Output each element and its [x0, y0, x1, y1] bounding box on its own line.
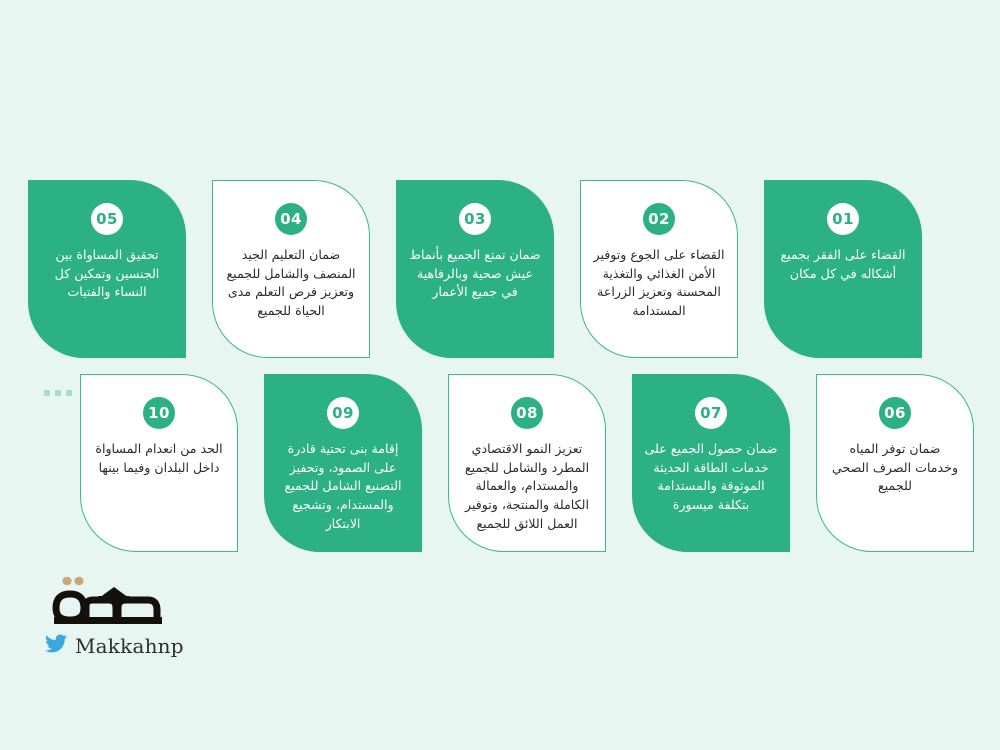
infographic-canvas: 05 تحقيق المساواة بين الجنسين وتمكين كل …	[0, 0, 1000, 750]
goal-description: القضاء على الجوع وتوفير الأمن الغذائي وا…	[591, 246, 727, 321]
goal-number-badge: 01	[827, 203, 859, 235]
goal-number-badge: 06	[879, 397, 911, 429]
ellipsis-dot	[44, 390, 50, 396]
goal-description: الحد من انعدام المساواة داخل البلدان وفي…	[91, 440, 227, 477]
goal-number-badge: 04	[275, 203, 307, 235]
goal-description: إقامة بنى تحتية قادرة على الصمود، وتحفيز…	[275, 440, 411, 533]
goal-number-badge: 08	[511, 397, 543, 429]
goal-number-badge: 10	[143, 397, 175, 429]
goal-description: ضمان توفر المياه وخدمات الصرف الصحي للجم…	[827, 440, 963, 496]
goal-description: ضمان التعليم الجيد المنصف والشامل للجميع…	[223, 246, 359, 321]
goal-description: تعزيز النمو الاقتصادي المطرد والشامل للج…	[459, 440, 595, 533]
goal-description: ضمان تمتع الجميع بأنماط عيش صحية وبالرفا…	[407, 246, 543, 302]
goal-description: تحقيق المساواة بين الجنسين وتمكين كل الن…	[39, 246, 175, 302]
ellipsis-dots	[44, 390, 72, 396]
goal-card-03[interactable]: 03 ضمان تمتع الجميع بأنماط عيش صحية وبال…	[396, 180, 554, 358]
makkah-logo-icon	[44, 572, 174, 630]
ellipsis-dot	[66, 390, 72, 396]
goal-number-badge: 03	[459, 203, 491, 235]
goal-card-04[interactable]: 04 ضمان التعليم الجيد المنصف والشامل للج…	[212, 180, 370, 358]
twitter-bird-icon	[44, 634, 68, 658]
goal-description: القضاء على الفقر بجميع أشكاله في كل مكان	[775, 246, 911, 283]
goal-number-badge: 05	[91, 203, 123, 235]
goal-card-10[interactable]: 10 الحد من انعدام المساواة داخل البلدان …	[80, 374, 238, 552]
twitter-handle[interactable]: Makkahnp	[44, 634, 254, 658]
goal-card-09[interactable]: 09 إقامة بنى تحتية قادرة على الصمود، وتح…	[264, 374, 422, 552]
goal-number-badge: 07	[695, 397, 727, 429]
goal-card-05[interactable]: 05 تحقيق المساواة بين الجنسين وتمكين كل …	[28, 180, 186, 358]
twitter-handle-text: Makkahnp	[75, 634, 184, 658]
ellipsis-dot	[55, 390, 61, 396]
brand-logo-block: Makkahnp	[44, 572, 254, 658]
goal-card-06[interactable]: 06 ضمان توفر المياه وخدمات الصرف الصحي ل…	[816, 374, 974, 552]
goal-description: ضمان حصول الجميع على خدمات الطاقة الحديث…	[643, 440, 779, 515]
goal-card-02[interactable]: 02 القضاء على الجوع وتوفير الأمن الغذائي…	[580, 180, 738, 358]
goal-number-badge: 09	[327, 397, 359, 429]
goal-card-01[interactable]: 01 القضاء على الفقر بجميع أشكاله في كل م…	[764, 180, 922, 358]
goal-card-07[interactable]: 07 ضمان حصول الجميع على خدمات الطاقة الح…	[632, 374, 790, 552]
goal-card-08[interactable]: 08 تعزيز النمو الاقتصادي المطرد والشامل …	[448, 374, 606, 552]
goal-number-badge: 02	[643, 203, 675, 235]
